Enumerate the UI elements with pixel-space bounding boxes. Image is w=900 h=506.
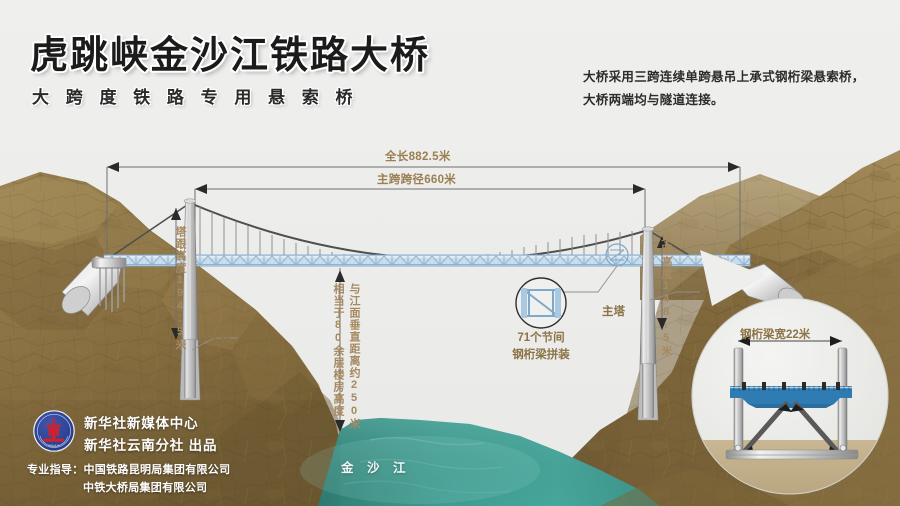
advisor-credits: 专业指导：中国铁路昆明局集团有限公司 中铁大桥局集团有限公司 (27, 462, 230, 497)
truss-detail-magnifier (516, 278, 566, 328)
truss-detail-marker (560, 244, 628, 292)
main-span-label: 主跨跨径660米 (377, 171, 456, 187)
main-cable (190, 203, 648, 259)
org-credits: 新华社新媒体中心 新华社云南分社 出品 (84, 413, 217, 458)
main-tower-label-right: 主塔 (602, 303, 625, 319)
main-tower-label-left: 主塔 (209, 332, 232, 348)
description-line-1: 大桥采用三跨连续单跨悬吊上承式钢桁梁悬索桥， (583, 66, 893, 89)
right-tower-height-label: 塔跟高度148.5米 (658, 232, 674, 348)
truss-callout: 71个节间 钢桁梁拼装 (497, 330, 585, 365)
truss-width-label: 钢桁梁宽22米 (740, 326, 810, 342)
total-length-label: 全长882.5米 (385, 148, 451, 164)
truss-callout-line-2: 钢桁梁拼装 (497, 347, 585, 364)
river-name-label: 金 沙 江 (341, 457, 410, 476)
left-tower-height-label: 塔跟高度194.5米 (172, 226, 188, 342)
river-height-label-1: 与江面垂直距离约250米 (346, 283, 362, 411)
infographic-canvas: 虎跳峡金沙江铁路大桥 大 跨 度 铁 路 专 用 悬 索 桥 大桥采用三跨连续单… (0, 0, 900, 506)
page-subtitle: 大 跨 度 铁 路 专 用 悬 索 桥 (32, 83, 359, 108)
svg-text:XINHUA: XINHUA (48, 443, 59, 447)
xinhua-logo: XINHUA (33, 410, 75, 452)
description-line-2: 大桥两端均与隧道连接。 (583, 89, 893, 112)
river-height-label-2: 相当于80余层楼房高度 (330, 283, 346, 411)
advisor-line-2: 中铁大桥局集团有限公司 (27, 480, 230, 498)
description-block: 大桥采用三跨连续单跨悬吊上承式钢桁梁悬索桥， 大桥两端均与隧道连接。 (583, 66, 893, 112)
truss-callout-line-1: 71个节间 (497, 330, 585, 347)
org-line-2: 新华社云南分社 出品 (84, 435, 217, 457)
page-title: 虎跳峡金沙江铁路大桥 (30, 24, 430, 79)
org-line-1: 新华社新媒体中心 (84, 413, 217, 435)
advisor-line-1: 专业指导：中国铁路昆明局集团有限公司 (27, 462, 230, 480)
